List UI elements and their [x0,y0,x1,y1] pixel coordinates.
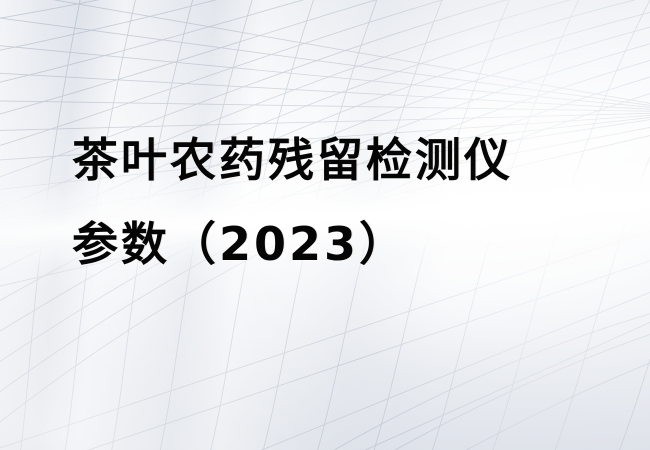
banner-title-line-2: 参数（2023） [72,202,592,286]
banner-title-line-1: 茶叶农药残留检测仪 [72,118,592,202]
banner-heading: 茶叶农药残留检测仪 参数（2023） [72,118,592,286]
banner-image: 茶叶农药残留检测仪 参数（2023） [0,0,650,450]
